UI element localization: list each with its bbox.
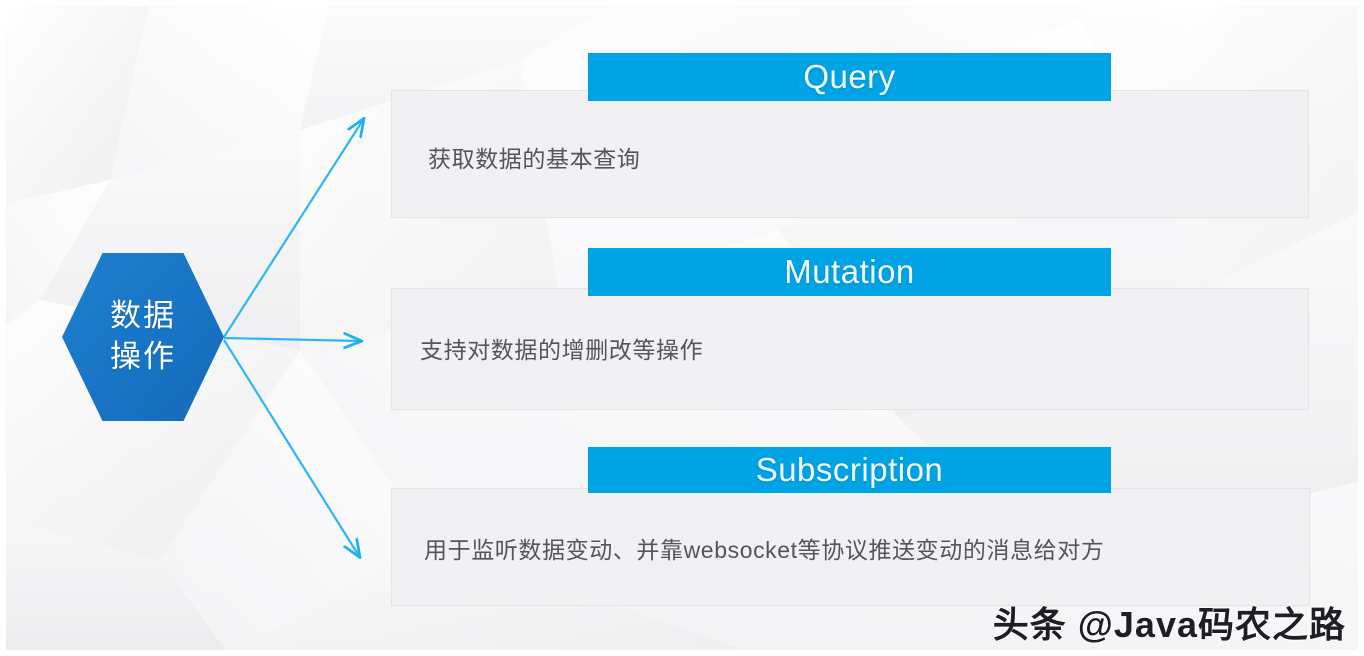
hexagon-icon	[62, 253, 224, 421]
slide-canvas: 数据 操作 获取数据的基本查询 Query 支持对数据的增删改等操作 Mutat…	[0, 0, 1364, 656]
card-query-header-label: Query	[803, 58, 895, 96]
hexagon-node-data-operations[interactable]: 数据 操作	[62, 253, 224, 421]
card-query-body: 获取数据的基本查询	[428, 140, 640, 174]
watermark: 头条 @Java码农之路	[993, 596, 1346, 648]
card-mutation-header[interactable]: Mutation	[588, 248, 1111, 296]
card-subscription-body: 用于监听数据变动、并靠websocket等协议推送变动的消息给对方	[424, 531, 1104, 565]
card-mutation-header-label: Mutation	[784, 253, 915, 291]
card-mutation-body: 支持对数据的增删改等操作	[420, 331, 703, 365]
card-query-header[interactable]: Query	[588, 53, 1111, 101]
card-subscription-header[interactable]: Subscription	[588, 447, 1111, 493]
card-subscription-header-label: Subscription	[756, 451, 944, 489]
